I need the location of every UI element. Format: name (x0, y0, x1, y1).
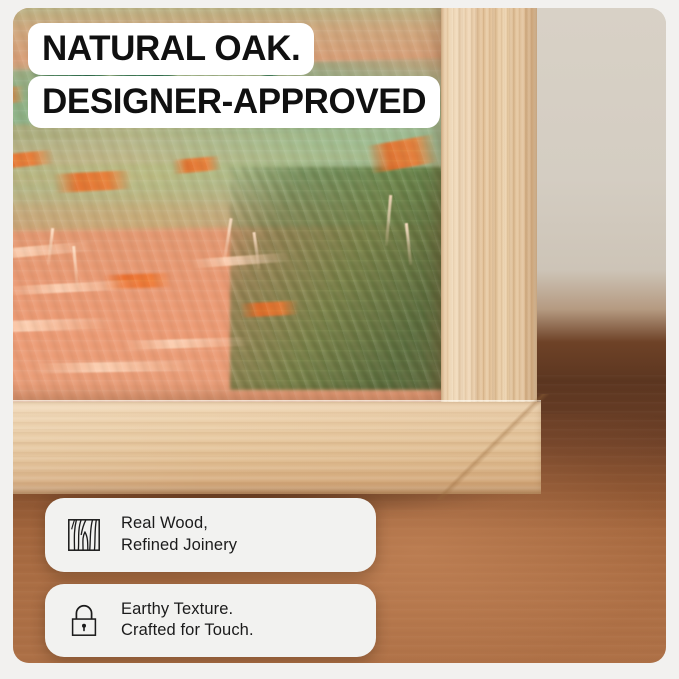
headline-line-2: DESIGNER-APPROVED (28, 76, 440, 128)
feature-card-list: Real Wood, Refined Joinery Earthy Textur… (45, 498, 376, 657)
wood-grain-icon (65, 516, 103, 554)
feature-card-real-wood[interactable]: Real Wood, Refined Joinery (45, 498, 376, 572)
headline-line-1: NATURAL OAK. (28, 23, 314, 75)
headline: NATURAL OAK. DESIGNER-APPROVED (28, 23, 440, 128)
frame-bottom-rail (13, 402, 541, 494)
feature-card-label: Real Wood, Refined Joinery (121, 513, 237, 557)
photo-area: NATURAL OAK. DESIGNER-APPROVED (13, 8, 666, 663)
feature-card-label: Earthy Texture. Crafted for Touch. (121, 599, 254, 643)
feature-card-earthy-texture[interactable]: Earthy Texture. Crafted for Touch. (45, 584, 376, 658)
product-lifestyle-image: NATURAL OAK. DESIGNER-APPROVED (0, 0, 679, 679)
lock-icon (65, 601, 103, 639)
